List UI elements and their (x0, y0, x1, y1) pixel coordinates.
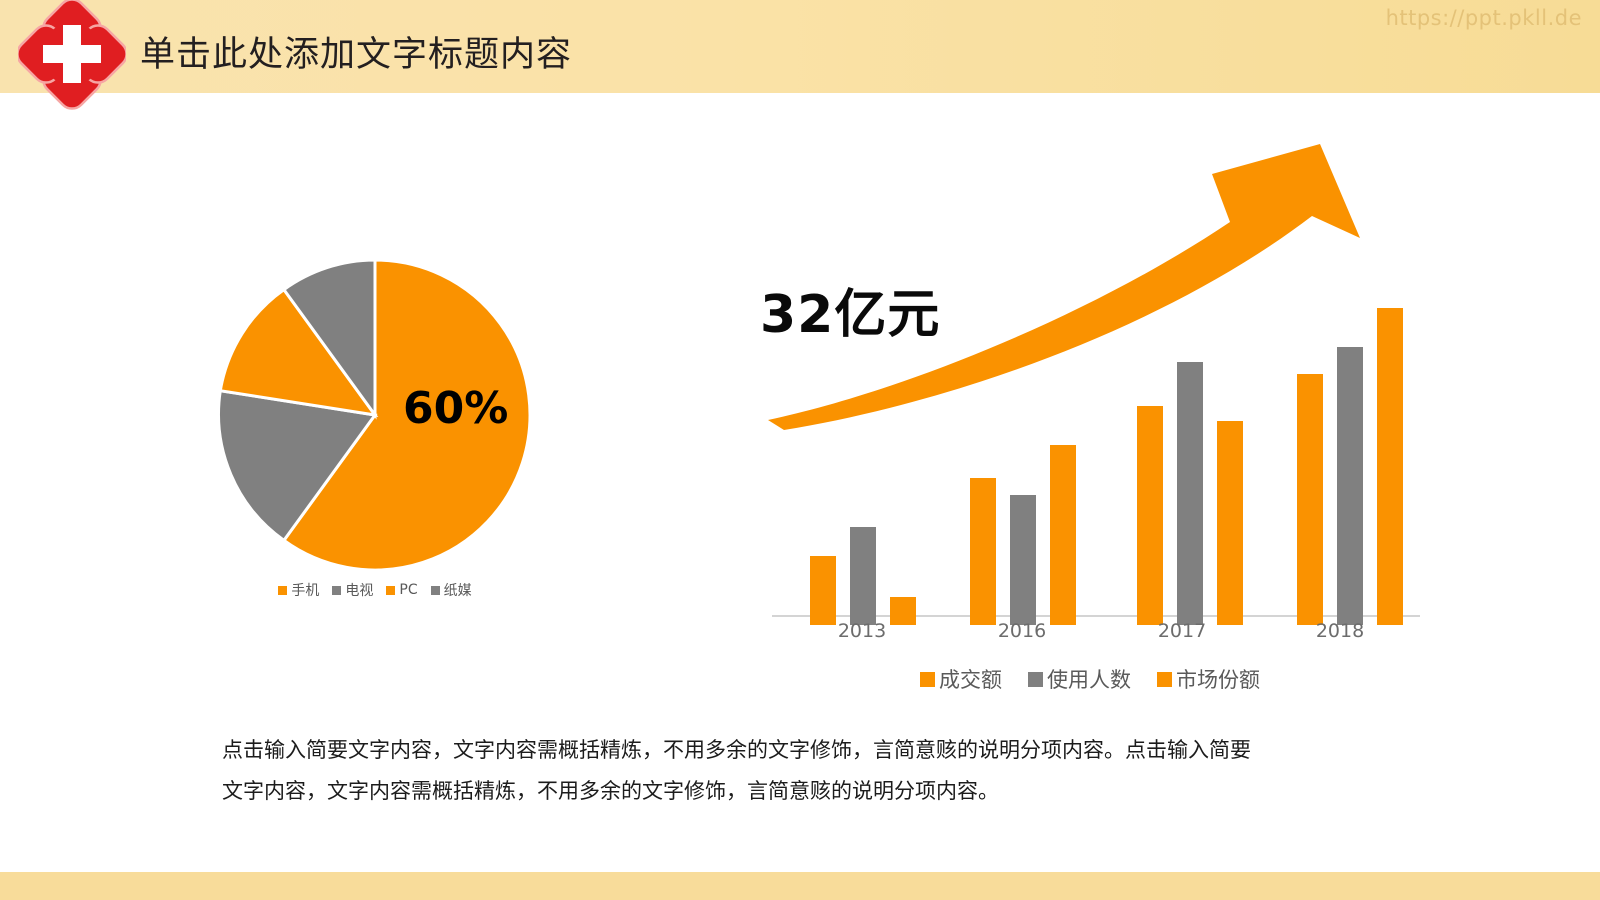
hospital-flower-cross-logo (18, 0, 126, 110)
bar-2016-shiyongrenshu[interactable] (1010, 495, 1036, 625)
legend-item-tv[interactable]: 电视 (332, 580, 373, 600)
pie-chart[interactable]: 60% (215, 255, 535, 575)
bar-legend-label-chengjiaoe: 成交额 (939, 664, 1002, 694)
legend-label-mobile: 手机 (291, 580, 319, 600)
bar-legend-swatch-shichangfene (1157, 672, 1172, 687)
pie-legend: 手机 电视 PC 纸媒 (215, 580, 535, 600)
legend-item-mobile[interactable]: 手机 (278, 580, 319, 600)
body-line-1: 点击输入简要文字内容，文字内容需概括精炼，不用多余的文字修饰，言简意赅的说明分项… (222, 730, 1382, 771)
legend-swatch-tv (332, 586, 341, 595)
x-tick-2016: 2016 (962, 620, 1082, 642)
legend-label-tv: 电视 (345, 580, 373, 600)
body-paragraph[interactable]: 点击输入简要文字内容，文字内容需概括精炼，不用多余的文字修饰，言简意赅的说明分项… (222, 730, 1382, 812)
page-title: 单击此处添加文字标题内容 (140, 26, 572, 77)
legend-swatch-pc (386, 586, 395, 595)
x-tick-2013: 2013 (802, 620, 922, 642)
bar-legend-item-chengjiaoe[interactable]: 成交额 (920, 664, 1002, 694)
bar-2017-shichangfene[interactable] (1217, 421, 1243, 625)
bar-2016-chengjiaoe[interactable] (970, 478, 996, 625)
legend-item-pc[interactable]: PC (386, 582, 417, 598)
footer-band (0, 872, 1600, 900)
bar-legend-label-shiyongrenshu: 使用人数 (1047, 664, 1131, 694)
bar-plot (772, 140, 1420, 625)
bar-legend-label-shichangfene: 市场份额 (1176, 664, 1260, 694)
x-tick-2018: 2018 (1280, 620, 1400, 642)
slide-canvas: https://ppt.pkll.de 单击此处添加文字标题内容 (0, 0, 1600, 900)
bar-2013-chengjiaoe[interactable] (810, 556, 836, 625)
bar-legend-swatch-chengjiaoe (920, 672, 935, 687)
bar-legend: 成交额 使用人数 市场份额 (760, 664, 1420, 694)
legend-item-print[interactable]: 纸媒 (431, 580, 472, 600)
body-line-2: 文字内容，文字内容需概括精炼，不用多余的文字修饰，言简意赅的说明分项内容。 (222, 771, 1382, 812)
bar-2017-chengjiaoe[interactable] (1137, 406, 1163, 625)
legend-label-pc: PC (399, 582, 417, 598)
watermark-url: https://ppt.pkll.de (1386, 6, 1582, 30)
bar-2016-shichangfene[interactable] (1050, 445, 1076, 625)
bar-chart[interactable]: 32亿元 (760, 130, 1420, 630)
legend-label-print: 纸媒 (444, 580, 472, 600)
bar-legend-item-shiyongrenshu[interactable]: 使用人数 (1028, 664, 1131, 694)
legend-swatch-mobile (278, 586, 287, 595)
legend-swatch-print (431, 586, 440, 595)
bar-2013-shiyongrenshu[interactable] (850, 527, 876, 625)
bar-legend-swatch-shiyongrenshu (1028, 672, 1043, 687)
x-tick-2017: 2017 (1122, 620, 1242, 642)
x-axis-tick-labels: 2013 2016 2017 2018 (772, 620, 1420, 650)
bar-2018-shiyongrenshu[interactable] (1337, 347, 1363, 625)
bar-2018-shichangfene[interactable] (1377, 308, 1403, 625)
pie-center-label: 60% (403, 383, 508, 434)
bar-legend-item-shichangfene[interactable]: 市场份额 (1157, 664, 1260, 694)
bar-2018-chengjiaoe[interactable] (1297, 374, 1323, 625)
bar-2017-shiyongrenshu[interactable] (1177, 362, 1203, 625)
